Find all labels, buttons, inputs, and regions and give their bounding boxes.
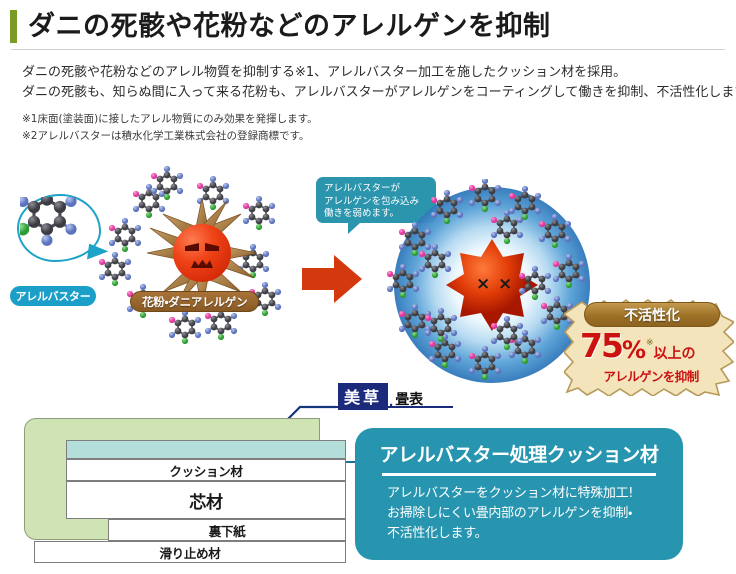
allergen-label-pill: 花粉・ダニアレルゲン: [130, 291, 259, 312]
page-title: ダニの死骸や花粉などのアレルゲンを抑制: [28, 13, 551, 40]
footnote-1: ※1床面(塗装面)に接したアレル物質にのみ効果を発揮します。: [22, 111, 722, 128]
allergen-face: [173, 224, 231, 282]
tatami-layer-backing-paper: 裏下紙: [108, 519, 346, 541]
tatami-layer-anti-slip: 滑り止め材: [34, 541, 346, 563]
tatami-layer-core: 芯材: [66, 481, 346, 519]
intro-line-2: ダニの死骸も、知らぬ間に入って来る花粉も、アレルバスターがアレルゲンをコーティン…: [22, 83, 722, 103]
intro-line-1: ダニの死骸や花粉などのアレル物質を抑制する※1、アレルバスター加工を施したクッシ…: [22, 63, 722, 83]
badge-percent-sign: %: [622, 338, 646, 362]
allerbuster-molecule-icon: [20, 197, 100, 261]
badge-percentage-row: 75 % ※ 以上の: [580, 329, 720, 362]
cushion-info-line-2: お掃除しにくい畳内部のアレルゲンを抑制・: [373, 504, 665, 524]
tatami-cross-section: クッション材 芯材 裏下紙 滑り止め材: [24, 418, 320, 566]
allerbuster-label-pill: アレルバスター: [10, 286, 96, 306]
cushion-info-title: アレルバスター処理クッション材: [373, 440, 665, 467]
badge-footnote-mark: ※: [646, 339, 654, 348]
footnote-2: ※2アレルバスターは積水化学工業株式会社の登録商標です。: [22, 128, 722, 145]
header-divider: [11, 49, 725, 50]
cushion-info-line-1: アレルバスターをクッション材に特殊加工!: [373, 484, 665, 504]
badge-number: 75: [580, 329, 622, 362]
tatami-layer-allerbuster-cushion: [66, 440, 346, 459]
allergen-diagram: アレルバスター: [0, 165, 736, 400]
page-header: ダニの死骸や花粉などのアレルゲンを抑制: [0, 4, 736, 48]
tatami-section: 美草 . 畳表 クッション材 芯材 裏下紙 滑り止め材 アレルバスター処理クッシ…: [0, 378, 736, 574]
title-accent-bar: [10, 10, 17, 43]
cushion-info-divider: [382, 473, 656, 476]
intro-text-block: ダニの死骸や花粉などのアレル物質を抑制する※1、アレルバスター加工を施したクッシ…: [22, 63, 722, 145]
process-arrow-icon: [302, 253, 362, 305]
cushion-info-box: アレルバスター処理クッション材 アレルバスターをクッション材に特殊加工! お掃除…: [355, 428, 683, 560]
footnotes: ※1床面(塗装面)に接したアレル物質にのみ効果を発揮します。 ※2アレルバスター…: [22, 111, 722, 145]
tatami-layer-cushion: クッション材: [66, 459, 346, 481]
misou-underline: [336, 406, 453, 408]
encapsulation-note-tail: [348, 222, 361, 234]
cushion-info-line-3: 不活性化します。: [373, 524, 665, 544]
badge-ribbon: 不活性化: [584, 302, 720, 327]
badge-ijou-text: 以上の: [654, 347, 696, 361]
